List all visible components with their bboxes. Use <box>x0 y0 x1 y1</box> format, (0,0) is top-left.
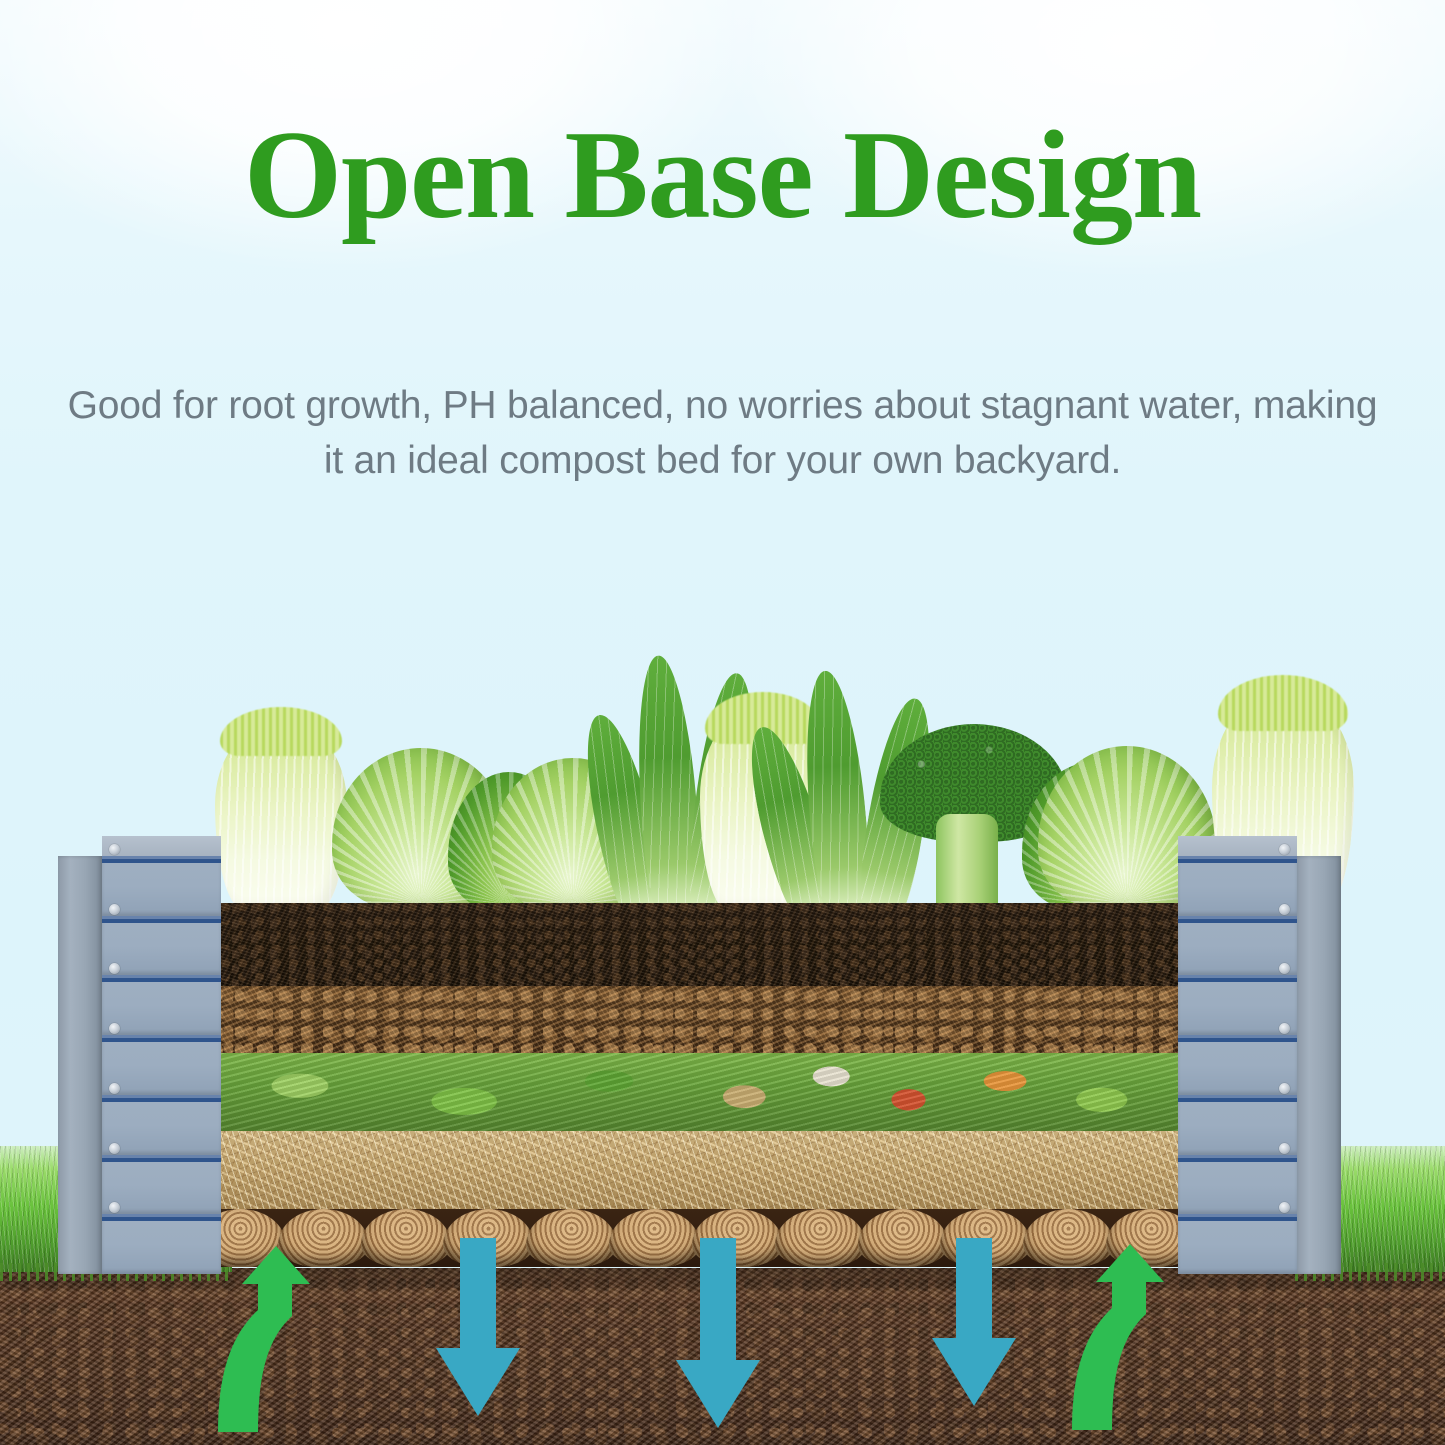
screw-icon <box>1279 1143 1290 1154</box>
arrow-down-teal <box>672 1238 764 1430</box>
screw-icon <box>109 1083 120 1094</box>
slat <box>102 1095 221 1155</box>
arrow-up-green <box>1066 1242 1186 1432</box>
arrow-down-teal <box>432 1238 524 1418</box>
bed-cross-section <box>213 903 1179 1267</box>
infographic-canvas: Open Base Design Good for root growth, P… <box>0 0 1445 1445</box>
layer-straw <box>213 1131 1179 1209</box>
broccoli-stalk <box>936 814 998 910</box>
screw-icon <box>1279 1083 1290 1094</box>
corner-post <box>58 856 102 1274</box>
layer-topsoil <box>213 903 1179 986</box>
flow-arrows <box>0 1248 1445 1438</box>
slat <box>102 975 221 1035</box>
screw-icon <box>1279 904 1290 915</box>
arrow-up-green <box>212 1244 332 1434</box>
corner-post <box>1297 856 1341 1274</box>
screw-icon <box>109 1143 120 1154</box>
screw-icon <box>1279 844 1290 855</box>
napa-cabbage <box>215 722 347 910</box>
post-left-slats <box>102 856 221 1274</box>
slat <box>102 1035 221 1095</box>
arrow-down-teal <box>928 1238 1020 1408</box>
layer-kitchen-scraps <box>213 1053 1179 1131</box>
post-right-slats <box>1178 856 1297 1274</box>
screw-icon <box>109 904 120 915</box>
screw-icon <box>109 844 120 855</box>
post-left <box>58 856 221 1274</box>
page-title: Open Base Design <box>0 112 1445 241</box>
page-subtitle: Good for root growth, PH balanced, no wo… <box>58 378 1388 489</box>
layer-compost <box>213 986 1179 1053</box>
slat <box>102 856 221 916</box>
post-right <box>1178 856 1341 1274</box>
slat-cap <box>102 836 221 856</box>
